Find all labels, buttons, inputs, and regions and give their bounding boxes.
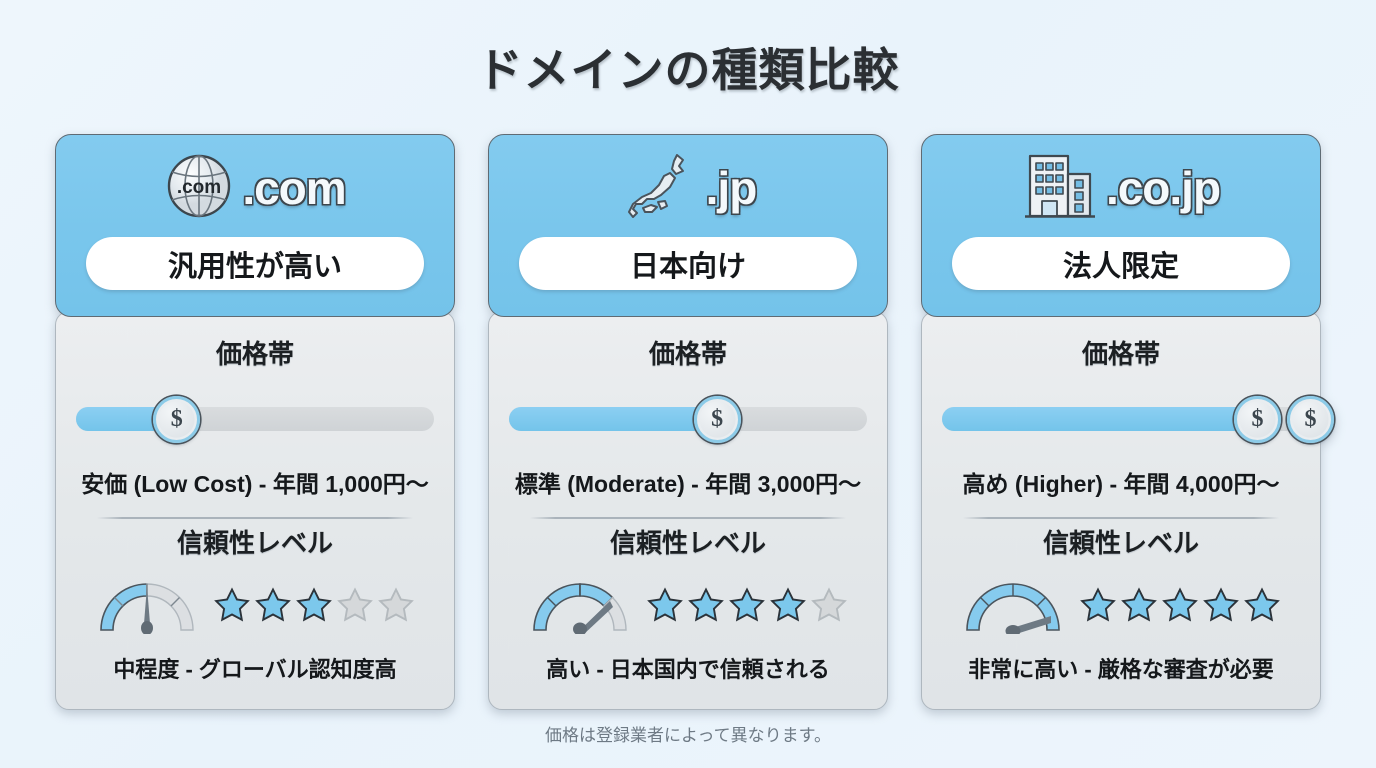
price-slider[interactable]: $ [76,393,434,445]
star-icon-filled [213,586,251,624]
star-icon-filled [728,586,766,624]
tld-label: .com [242,161,345,215]
trust-row [76,576,434,634]
slider-coin-handle[interactable]: $ [1234,396,1281,443]
star-icon-filled [295,586,333,624]
trust-section-label: 信頼性レベル [1043,523,1199,560]
trust-description: 非常に高い - 厳格な審査が必要 [968,652,1274,684]
card-header-row: .co.jp [922,145,1320,231]
trust-row [509,576,867,634]
star-icon-empty [336,586,374,624]
card-header: .co.jp 法人限定 [921,134,1321,317]
price-section-label: 価格帯 [1082,334,1160,371]
trust-description: 高い - 日本国内で信頼される [546,652,830,684]
domain-card-com[interactable]: .com .com 汎用性が高い 価格帯 $ 安価 (Low Cost) - 年… [55,134,455,710]
slider-fill [942,407,1257,431]
slider-fill [509,407,717,431]
japan-map-icon [620,147,698,230]
price-slider[interactable]: $ $ [942,393,1300,445]
card-body: 価格帯 $ $ 高め (Higher) - 年間 4,000円〜 信頼性レベル [921,311,1321,710]
cards-row: .com .com 汎用性が高い 価格帯 $ 安価 (Low Cost) - 年… [55,134,1321,710]
card-header-row: .com .com [56,145,454,231]
card-badge: 汎用性が高い [86,237,424,290]
tld-label: .jp [706,161,757,215]
star-icon-filled [646,586,684,624]
price-section-label: 価格帯 [216,334,294,371]
trust-stars [646,586,848,624]
star-icon-filled [687,586,725,624]
card-body: 価格帯 $ 標準 (Moderate) - 年間 3,000円〜 信頼性レベル [488,311,888,710]
trust-stars [213,586,415,624]
card-header-row: .jp [489,145,887,231]
slider-coin-handle[interactable]: $ [694,396,741,443]
trust-stars [1079,586,1281,624]
trust-section-label: 信頼性レベル [177,523,333,560]
star-icon-filled [1202,586,1240,624]
trust-section-label: 信頼性レベル [610,523,766,560]
comparison-infographic: ドメインの種類比較 [0,0,1376,768]
price-description: 高め (Higher) - 年間 4,000円〜 [963,465,1280,499]
page-title: ドメインの種類比較 [0,34,1376,100]
price-description: 標準 (Moderate) - 年間 3,000円〜 [515,465,861,499]
section-divider [963,517,1278,519]
star-icon-filled [1079,586,1117,624]
trust-description: 中程度 - グローバル認知度高 [113,652,396,684]
domain-card-cojp[interactable]: .co.jp 法人限定 価格帯 $ $ 高め (Higher) - 年間 4,0… [921,134,1321,710]
trust-row [942,576,1300,634]
star-icon-filled [769,586,807,624]
section-divider [530,517,845,519]
footer-note: 価格は登録業者によって異なります。 [0,721,1376,746]
star-icon-empty [377,586,415,624]
card-badge: 日本向け [519,237,857,290]
tld-label: .co.jp [1106,161,1220,215]
star-icon-empty [810,586,848,624]
section-divider [97,517,412,519]
price-description: 安価 (Low Cost) - 年間 1,000円〜 [81,465,429,499]
price-section-label: 価格帯 [649,334,727,371]
price-slider[interactable]: $ [509,393,867,445]
domain-card-jp[interactable]: .jp 日本向け 価格帯 $ 標準 (Moderate) - 年間 3,000円… [488,134,888,710]
card-body: 価格帯 $ 安価 (Low Cost) - 年間 1,000円〜 信頼性レベル [55,311,455,710]
star-icon-filled [254,586,292,624]
card-header: .com .com 汎用性が高い [55,134,455,317]
star-icon-filled [1243,586,1281,624]
star-icon-filled [1161,586,1199,624]
trust-gauge-icon [95,576,199,634]
slider-coin-secondary[interactable]: $ [1287,396,1334,443]
trust-gauge-icon [961,576,1065,634]
globe-icon: .com [164,151,234,226]
card-header: .jp 日本向け [488,134,888,317]
card-badge: 法人限定 [952,237,1290,290]
slider-coin-handle[interactable]: $ [153,396,200,443]
trust-gauge-icon [528,576,632,634]
svg-text:.com: .com [177,177,221,198]
office-buildings-icon [1022,150,1098,227]
star-icon-filled [1120,586,1158,624]
